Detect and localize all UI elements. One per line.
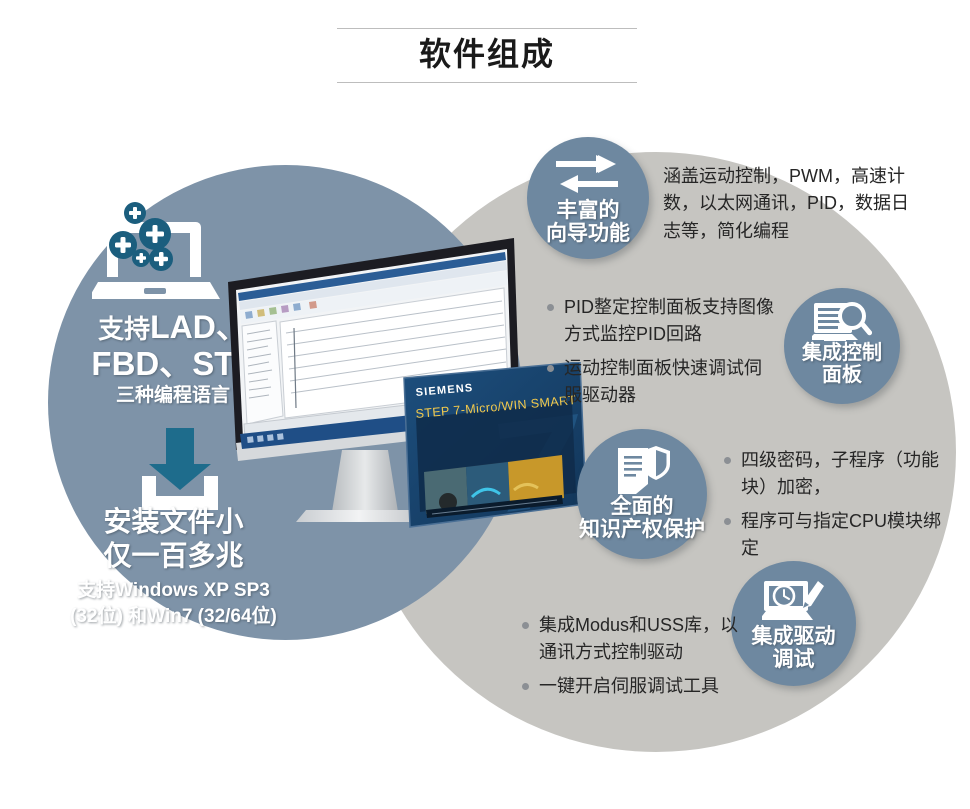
- list-item: 四级密码，子程序（功能块）加密，: [722, 447, 947, 501]
- badge-label-line2: 向导功能: [527, 223, 649, 246]
- os-support-line2: (32位) 和Win7 (32/64位): [36, 604, 311, 630]
- control-panel-bullets: PID整定控制面板支持图像方式监控PID回路 运动控制面板快速调试伺服驱动器: [545, 294, 775, 416]
- page-title-block: 软件组成: [337, 28, 637, 83]
- document-shield-icon: [577, 446, 707, 496]
- list-item: 一键开启伺服调试工具: [520, 673, 755, 700]
- badge-ip-protection-label: 全面的 知识产权保护: [577, 496, 707, 541]
- badge-rich-wizard[interactable]: 丰富的 向导功能: [527, 137, 649, 259]
- badge-integrated-control-panel-label: 集成控制 面板: [784, 343, 900, 386]
- list-item: 集成Modus和USS库，以通讯方式控制驱动: [520, 612, 755, 666]
- badge-label-line1: 丰富的: [527, 200, 649, 223]
- list-item: 程序可与指定CPU模块绑定: [722, 508, 947, 562]
- badge-label-line2: 面板: [784, 365, 900, 387]
- laptop-plus-icon: [92, 198, 222, 310]
- drive-commissioning-bullets: 集成Modus和USS库，以通讯方式控制驱动 一键开启伺服调试工具: [520, 612, 755, 707]
- ip-protection-bullets: 四级密码，子程序（功能块）加密， 程序可与指定CPU模块绑定: [722, 447, 947, 569]
- badge-ip-protection[interactable]: 全面的 知识产权保护: [577, 429, 707, 559]
- two-way-arrows-icon: [527, 153, 649, 199]
- poster-canvas: 软件组成: [0, 0, 970, 809]
- wizard-description: 涵盖运动控制，PWM，高速计数，以太网通讯，PID，数据日志等，简化编程: [663, 163, 913, 245]
- badge-label-line1: 集成控制: [784, 343, 900, 365]
- os-support-line1: 支持Windows XP SP3: [36, 578, 311, 604]
- install-headline-line2: 仅一百多兆: [36, 539, 311, 573]
- badge-integrated-control-panel[interactable]: 集成控制 面板: [784, 288, 900, 404]
- badge-rich-wizard-label: 丰富的 向导功能: [527, 200, 649, 245]
- monitor-magnifier-icon: [784, 301, 900, 347]
- badge-label-line2: 知识产权保护: [577, 519, 707, 542]
- title-rule-bottom: [337, 82, 637, 83]
- badge-label-line1: 全面的: [577, 496, 707, 519]
- list-item: 运动控制面板快速调试伺服驱动器: [545, 355, 775, 409]
- page-title: 软件组成: [337, 29, 637, 82]
- download-tray-icon: [140, 428, 220, 513]
- headline-prefix: 支持: [98, 314, 150, 344]
- list-item: PID整定控制面板支持图像方式监控PID回路: [545, 294, 775, 348]
